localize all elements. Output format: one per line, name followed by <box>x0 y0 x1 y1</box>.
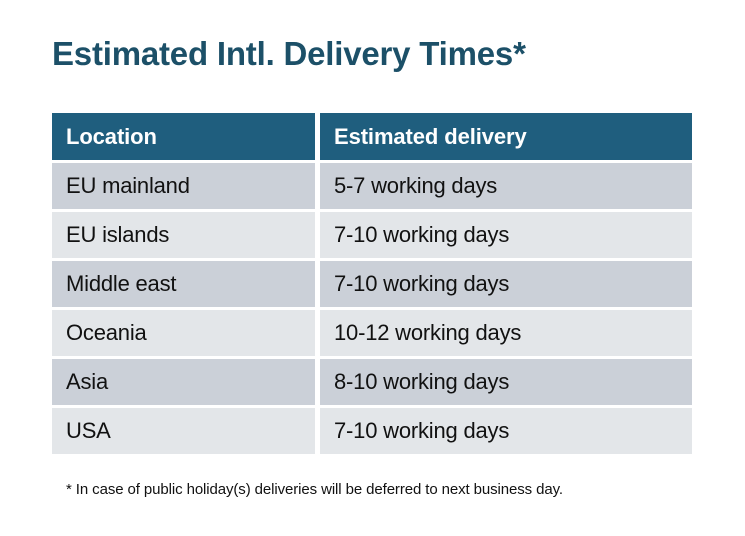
footnote-text: * In case of public holiday(s) deliverie… <box>66 481 563 498</box>
cell-location: USA <box>52 408 315 454</box>
cell-estimated-delivery: 7-10 working days <box>320 408 692 454</box>
cell-location: EU islands <box>52 212 315 258</box>
column-header-location: Location <box>52 113 315 160</box>
table-header-row: Location Estimated delivery <box>52 113 692 160</box>
page-title: Estimated Intl. Delivery Times* <box>52 36 526 72</box>
column-header-estimated-delivery: Estimated delivery <box>320 113 692 160</box>
cell-estimated-delivery: 7-10 working days <box>320 212 692 258</box>
cell-estimated-delivery: 5-7 working days <box>320 163 692 209</box>
table-row: EU mainland 5-7 working days <box>52 163 692 209</box>
delivery-times-table: Location Estimated delivery EU mainland … <box>52 113 692 454</box>
table-row: Asia 8-10 working days <box>52 359 692 405</box>
delivery-times-panel: Estimated Intl. Delivery Times* Location… <box>0 0 745 536</box>
cell-location: EU mainland <box>52 163 315 209</box>
cell-estimated-delivery: 10-12 working days <box>320 310 692 356</box>
table-row: Oceania 10-12 working days <box>52 310 692 356</box>
cell-estimated-delivery: 7-10 working days <box>320 261 692 307</box>
cell-location: Asia <box>52 359 315 405</box>
cell-location: Middle east <box>52 261 315 307</box>
cell-location: Oceania <box>52 310 315 356</box>
table-row: Middle east 7-10 working days <box>52 261 692 307</box>
cell-estimated-delivery: 8-10 working days <box>320 359 692 405</box>
table-row: EU islands 7-10 working days <box>52 212 692 258</box>
table-row: USA 7-10 working days <box>52 408 692 454</box>
